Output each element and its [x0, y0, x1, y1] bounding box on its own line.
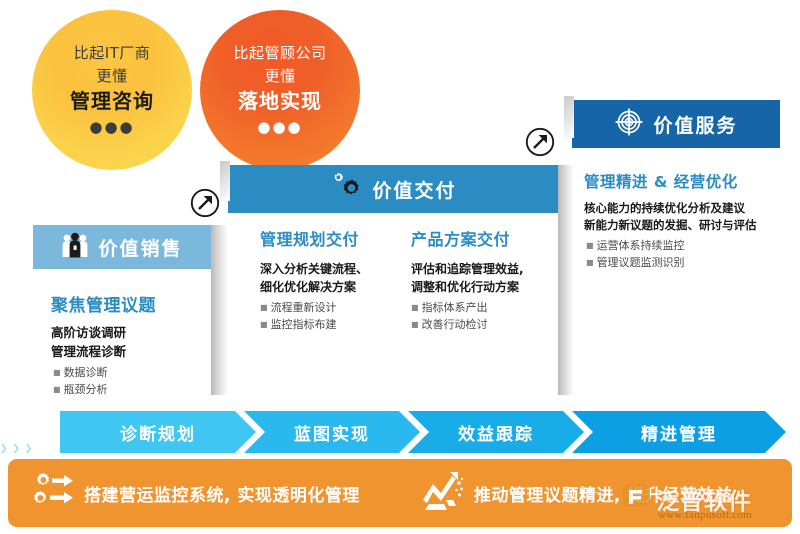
card-value-sales[interactable]: 价值销售 聚焦管理议题 高阶访谈调研 管理流程诊断 数据诊断 瓶颈分析: [33, 225, 211, 395]
circle-highlight: 落地实现: [238, 90, 322, 113]
value-circle-implementation: 比起管顾公司 更懂 落地实现 ●●●: [200, 10, 360, 170]
card-corner-shadow-2: [564, 96, 574, 138]
card-sales-line-1: 高阶访谈调研: [51, 324, 211, 343]
circle-dots: ●●●: [89, 120, 134, 135]
bullet-item: 瓶颈分析: [53, 381, 211, 398]
gears-arrows-icon: [30, 471, 76, 515]
arrow-up-right-badge-1: [190, 188, 220, 218]
process-step-diagnosis[interactable]: 诊断规划: [60, 411, 256, 453]
card-divider-shadow-2: [558, 165, 574, 395]
column-line-1: 评估和追踪管理效益,: [411, 260, 558, 278]
circle-line-1: 比起管顾公司: [233, 45, 326, 62]
column-line-1: 深入分析关键流程、: [260, 260, 393, 278]
circle-line-2: 更懂: [264, 68, 295, 85]
card-sales-bullets: 数据诊断 瓶颈分析: [53, 364, 211, 398]
column-line-2: 细化优化解决方案: [260, 278, 393, 296]
card-service-line-2: 新能力新议题的发掘、研讨与评估: [584, 217, 780, 234]
process-step-blueprint[interactable]: 蓝图实现: [244, 411, 420, 453]
card-value-service[interactable]: 价值服务 管理精进 & 经营优化 核心能力的持续优化分析及建议 新能力新议题的发…: [572, 100, 780, 395]
radar-target-icon: [614, 107, 644, 141]
card-sales-header: 价值销售: [33, 225, 211, 269]
watermark-url: www.fanpusoft.com: [658, 509, 752, 521]
card-divider-shadow-1: [211, 225, 228, 395]
card-sales-subtitle: 聚焦管理议题: [51, 291, 211, 316]
card-delivery-columns: 管理规划交付 深入分析关键流程、 细化优化解决方案 流程重新设计 监控指标布建 …: [228, 213, 558, 333]
column-title: 产品方案交付: [411, 226, 558, 250]
infographic-canvas: 比起IT厂商 更懂 管理咨询 ●●● 比起管顾公司 更懂 落地实现 ●●●: [0, 0, 800, 534]
fanpu-logo-icon: [619, 483, 653, 513]
bullet-item: 流程重新设计: [260, 299, 393, 316]
card-delivery-header: 价值交付: [228, 165, 558, 213]
circle-line-2: 更懂: [96, 68, 127, 85]
card-service-subtitle: 管理精进 & 经营优化: [584, 170, 780, 192]
card-value-delivery[interactable]: 价值交付 管理规划交付 深入分析关键流程、 细化优化解决方案 流程重新设计 监控…: [228, 165, 558, 395]
watermark: 泛普软件 www.fanpusoft.com: [614, 482, 790, 528]
delivery-column-product: 产品方案交付 评估和追踪管理效益, 调整和优化行动方案 指标体系产出 改善行动检…: [393, 226, 558, 333]
circle-highlight: 管理咨询: [70, 90, 154, 113]
growth-chart-arrow-icon: [420, 470, 466, 516]
delivery-column-planning: 管理规划交付 深入分析关键流程、 细化优化解决方案 流程重新设计 监控指标布建: [228, 226, 393, 333]
people-group-icon: [61, 232, 89, 262]
gears-icon: [329, 172, 363, 206]
bullet-item: 监控指标布建: [260, 316, 393, 333]
bullet-item: 管理议题监测识别: [586, 254, 780, 271]
card-sales-line-2: 管理流程诊断: [51, 343, 211, 362]
card-service-line-1: 核心能力的持续优化分析及建议: [584, 200, 780, 217]
arrow-up-right-badge-2: [525, 127, 555, 157]
column-bullets: 流程重新设计 监控指标布建: [260, 299, 393, 333]
card-service-header: 价值服务: [572, 100, 780, 148]
card-service-body: 管理精进 & 经营优化 核心能力的持续优化分析及建议 新能力新议题的发掘、研讨与…: [572, 148, 780, 271]
card-service-title: 价值服务: [653, 111, 737, 138]
process-leading-marks: ❯ ❯ ❯: [0, 444, 33, 454]
bullet-item: 运营体系持续监控: [586, 237, 780, 254]
card-sales-body: 聚焦管理议题 高阶访谈调研 管理流程诊断 数据诊断 瓶颈分析: [33, 269, 211, 398]
process-step-bar: 诊断规划 蓝图实现 效益跟踪 精进管理: [60, 411, 800, 453]
card-delivery-title: 价值交付: [372, 176, 456, 203]
bullet-item: 改善行动检讨: [411, 316, 558, 333]
card-corner-shadow-1: [220, 161, 230, 201]
column-line-2: 调整和优化行动方案: [411, 278, 558, 296]
column-bullets: 指标体系产出 改善行动检讨: [411, 299, 558, 333]
circle-dots: ●●●: [257, 120, 302, 135]
circle-line-1: 比起IT厂商: [74, 45, 151, 62]
card-sales-title: 价值销售: [98, 234, 182, 261]
process-step-benefit-tracking[interactable]: 效益跟踪: [408, 411, 584, 453]
bullet-item: 数据诊断: [53, 364, 211, 381]
column-title: 管理规划交付: [260, 226, 393, 250]
process-step-refinement[interactable]: 精进管理: [572, 411, 786, 453]
value-circle-management-consulting: 比起IT厂商 更懂 管理咨询 ●●●: [32, 10, 192, 170]
footer-text-1: 搭建营运监控系统, 实现透明化管理: [84, 481, 360, 506]
card-service-bullets: 运营体系持续监控 管理议题监测识别: [586, 237, 780, 271]
bullet-item: 指标体系产出: [411, 299, 558, 316]
footer-item-monitoring: 搭建营运监控系统, 实现透明化管理: [30, 471, 360, 515]
